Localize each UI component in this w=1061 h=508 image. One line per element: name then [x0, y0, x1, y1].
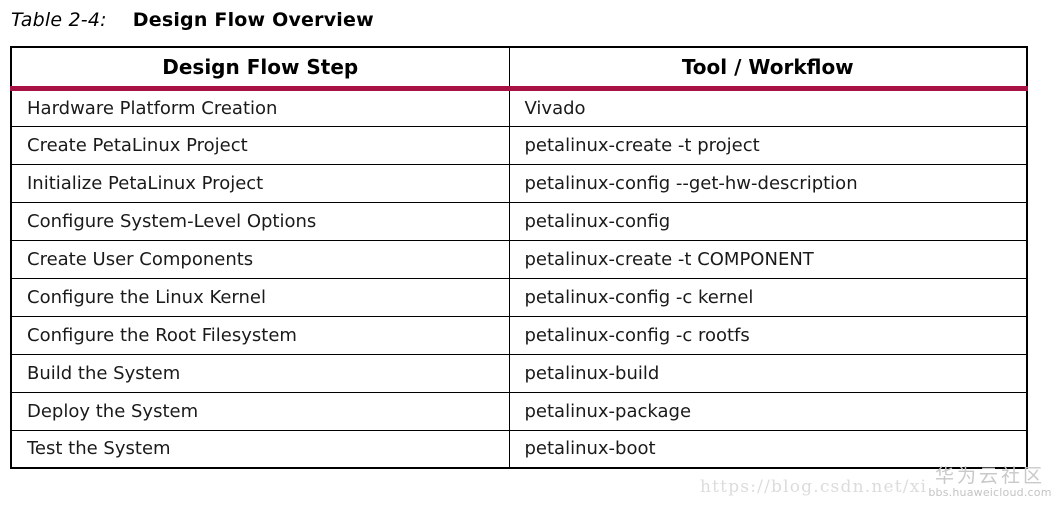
cell-design-flow-step: Build the System [11, 354, 509, 392]
table-row: Build the System petalinux-build [11, 354, 1027, 392]
watermark-csdn: https://blog.csdn.net/xi [700, 477, 927, 497]
design-flow-table-container: Design Flow Step Tool / Workflow Hardwar… [10, 46, 1026, 469]
table-row: Configure the Root Filesystem petalinux-… [11, 316, 1027, 354]
column-header-design-flow-step: Design Flow Step [11, 47, 509, 88]
design-flow-table: Design Flow Step Tool / Workflow Hardwar… [10, 46, 1028, 469]
table-row: Hardware Platform Creation Vivado [11, 88, 1027, 126]
table-row: Initialize PetaLinux Project petalinux-c… [11, 164, 1027, 202]
cell-design-flow-step: Create User Components [11, 240, 509, 278]
cell-design-flow-step: Configure the Linux Kernel [11, 278, 509, 316]
table-row: Deploy the System petalinux-package [11, 392, 1027, 430]
cell-design-flow-step: Initialize PetaLinux Project [11, 164, 509, 202]
cell-design-flow-step: Create PetaLinux Project [11, 126, 509, 164]
cell-tool-workflow: petalinux-package [509, 392, 1027, 430]
cell-tool-workflow: Vivado [509, 88, 1027, 126]
cell-tool-workflow: petalinux-create -t project [509, 126, 1027, 164]
cell-design-flow-step: Deploy the System [11, 392, 509, 430]
table-row: Configure System-Level Options petalinux… [11, 202, 1027, 240]
table-row: Create PetaLinux Project petalinux-creat… [11, 126, 1027, 164]
cell-tool-workflow: petalinux-create -t COMPONENT [509, 240, 1027, 278]
cell-design-flow-step: Configure System-Level Options [11, 202, 509, 240]
table-header: Design Flow Step Tool / Workflow [11, 47, 1027, 88]
cell-tool-workflow: petalinux-build [509, 354, 1027, 392]
cell-design-flow-step: Configure the Root Filesystem [11, 316, 509, 354]
watermark-huaweicloud-url: bbs.huaweicloud.com [925, 486, 1055, 499]
cell-tool-workflow: petalinux-boot [509, 430, 1027, 468]
cell-tool-workflow: petalinux-config -c rootfs [509, 316, 1027, 354]
cell-design-flow-step: Hardware Platform Creation [11, 88, 509, 126]
table-body: Hardware Platform Creation Vivado Create… [11, 88, 1027, 468]
cell-tool-workflow: petalinux-config -c kernel [509, 278, 1027, 316]
table-caption-label: Table 2-4: [11, 9, 107, 31]
table-caption-title: Design Flow Overview [133, 9, 374, 31]
table-caption: Table 2-4:Design Flow Overview [11, 9, 374, 31]
table-row: Create User Components petalinux-create … [11, 240, 1027, 278]
cell-tool-workflow: petalinux-config [509, 202, 1027, 240]
watermark-huaweicloud-label: 华为云社区 [925, 466, 1055, 486]
cell-design-flow-step: Test the System [11, 430, 509, 468]
table-row: Test the System petalinux-boot [11, 430, 1027, 468]
table-header-row: Design Flow Step Tool / Workflow [11, 47, 1027, 88]
column-header-tool-workflow: Tool / Workflow [509, 47, 1027, 88]
cell-tool-workflow: petalinux-config --get-hw-description [509, 164, 1027, 202]
table-row: Configure the Linux Kernel petalinux-con… [11, 278, 1027, 316]
watermark-huaweicloud: 华为云社区 bbs.huaweicloud.com [925, 466, 1055, 499]
